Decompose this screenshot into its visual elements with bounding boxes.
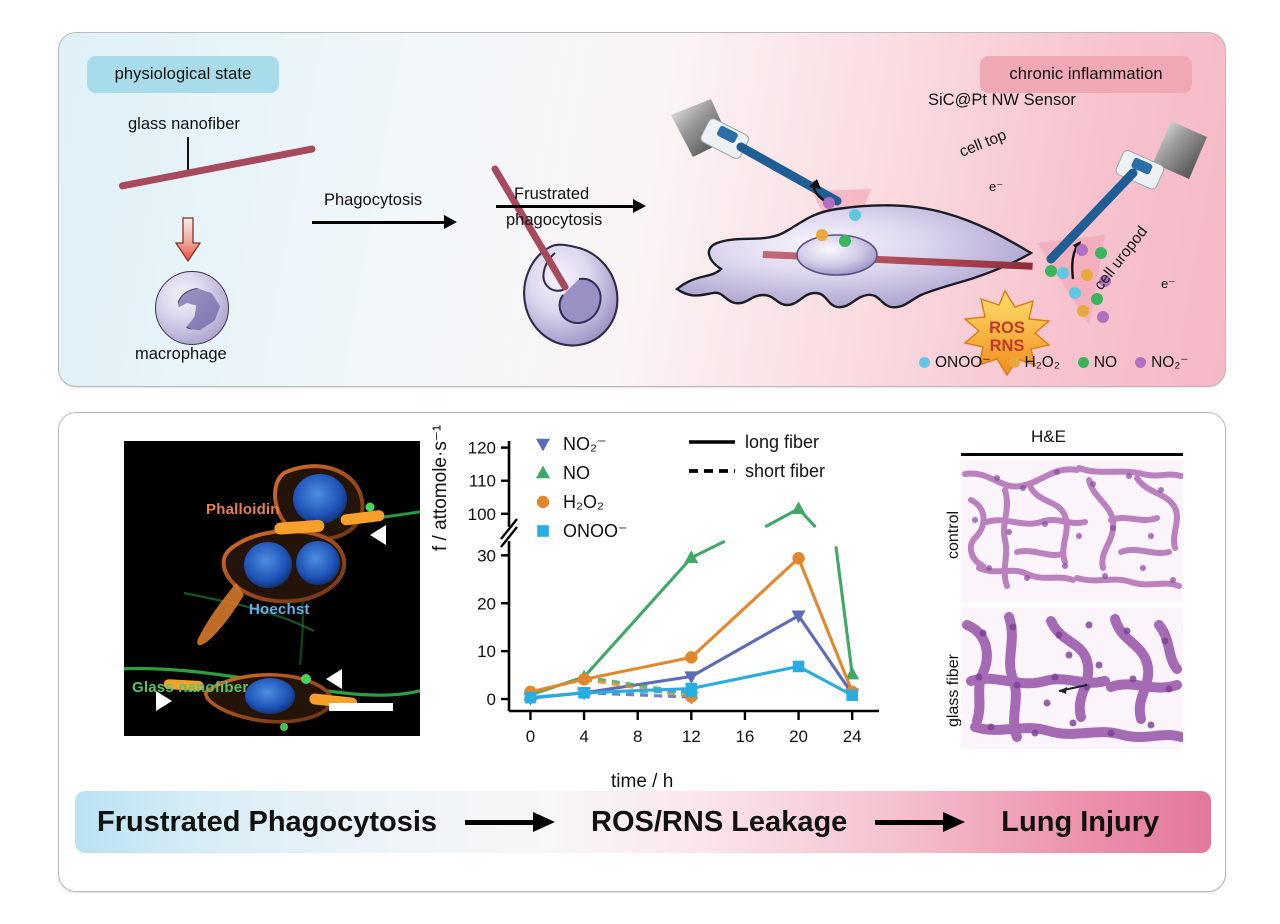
frustrated-arrow-line	[496, 205, 636, 208]
h2o2-dot-icon	[1009, 357, 1020, 368]
svg-text:110: 110	[469, 472, 496, 491]
glass-nanofiber-rod-icon	[118, 145, 316, 190]
svg-text:24: 24	[843, 727, 862, 746]
chart-canvas: 010203010011012004812162024NO₂⁻NOH₂O₂ONO…	[431, 423, 891, 768]
svg-text:4: 4	[579, 727, 588, 746]
no-dot-icon	[1078, 357, 1089, 368]
banner-step-1: Frustrated Phagocytosis	[97, 806, 437, 839]
bottom-panel: Phalloidin Hoechst Glass nanofiber f / a…	[58, 412, 1226, 892]
no2-dot-icon	[1135, 357, 1146, 368]
chronic-inflammation-tag: chronic inflammation	[980, 56, 1192, 93]
histology-rule	[961, 453, 1183, 456]
macrophage-label: macrophage	[135, 345, 227, 364]
sensor-label: SiC@Pt NW Sensor	[928, 91, 1076, 110]
svg-text:20: 20	[789, 727, 808, 746]
svg-text:100: 100	[468, 505, 496, 524]
svg-text:12: 12	[682, 727, 701, 746]
scale-bar	[329, 703, 393, 711]
phagocytosis-arrow-head	[444, 215, 457, 229]
frustrated-phagocytosis-label-line2: phagocytosis	[506, 211, 602, 230]
svg-text:120: 120	[468, 439, 496, 458]
electron-label-cell-top: e⁻	[989, 179, 1003, 195]
svg-text:long fiber: long fiber	[745, 432, 819, 452]
histology-title: H&E	[1031, 427, 1066, 447]
svg-text:8: 8	[633, 727, 642, 746]
phagocytosis-arrow-label: Phagocytosis	[324, 191, 422, 210]
frustrated-phagocytosis-label-line1: Frustrated	[514, 185, 589, 204]
banner-arrow-2	[875, 818, 971, 826]
electron-label-uropod: e⁻	[1161, 276, 1175, 292]
svg-text:short fiber: short fiber	[745, 461, 825, 481]
svg-text:NO: NO	[563, 463, 590, 483]
species-legend-item: NO₂⁻	[1135, 353, 1188, 372]
banner-step-2: ROS/RNS Leakage	[591, 806, 847, 839]
physiological-state-tag: physiological state	[87, 56, 279, 93]
histology-render-control	[961, 460, 1183, 602]
svg-text:10: 10	[477, 642, 496, 661]
species-legend: ONOO⁻ H₂O₂ NO NO₂⁻	[919, 353, 1189, 372]
species-label: H₂O₂	[1025, 354, 1060, 372]
species-legend-item: NO	[1078, 354, 1117, 372]
phalloidin-label: Phalloidin	[206, 501, 280, 518]
phagocytosis-arrow-line	[312, 221, 447, 224]
top-panel: physiological state chronic inflammation…	[58, 32, 1226, 387]
svg-text:ROS: ROS	[989, 319, 1025, 337]
species-label: NO	[1094, 354, 1117, 372]
chart-y-axis-label: f / attomole·s⁻¹	[429, 425, 452, 551]
species-label: NO₂⁻	[1151, 353, 1188, 372]
fluorescence-micrograph: Phalloidin Hoechst Glass nanofiber	[124, 441, 420, 736]
hoechst-label: Hoechst	[249, 601, 310, 618]
ros-rns-flux-chart: f / attomole·s⁻¹ time / h 01020301001101…	[431, 423, 891, 803]
down-arrow-icon	[174, 216, 202, 264]
species-legend-item: ONOO⁻	[919, 353, 991, 372]
svg-text:ONOO⁻: ONOO⁻	[563, 521, 628, 541]
svg-text:0: 0	[526, 727, 535, 746]
species-label: ONOO⁻	[935, 353, 991, 372]
glass-nanofiber-label-fluor: Glass nanofiber	[132, 679, 248, 696]
summary-banner: Frustrated Phagocytosis ROS/RNS Leakage …	[75, 791, 1211, 853]
graphical-abstract: physiological state chronic inflammation…	[0, 0, 1280, 924]
histology-image-glass-fiber	[961, 607, 1183, 749]
svg-text:H₂O₂: H₂O₂	[563, 492, 604, 512]
svg-text:16: 16	[735, 727, 754, 746]
histology-render-glass-fiber	[961, 607, 1183, 749]
glass-nanofiber-label: glass nanofiber	[128, 115, 240, 134]
macrophage-nucleus	[176, 288, 222, 332]
banner-step-3: Lung Injury	[1001, 806, 1159, 839]
svg-text:30: 30	[477, 546, 496, 565]
banner-arrow-1	[465, 818, 561, 826]
onoo-dot-icon	[919, 357, 930, 368]
histology-block: H&E control glass fiber	[931, 427, 1183, 757]
macrophage-icon	[155, 271, 229, 345]
svg-text:0: 0	[487, 690, 496, 709]
frustrated-arrow-head	[633, 199, 646, 213]
histology-image-control	[961, 460, 1183, 602]
svg-text:20: 20	[477, 594, 496, 613]
svg-text:NO₂⁻: NO₂⁻	[563, 434, 607, 454]
chart-x-axis-label: time / h	[611, 771, 673, 793]
species-legend-item: H₂O₂	[1009, 354, 1060, 372]
